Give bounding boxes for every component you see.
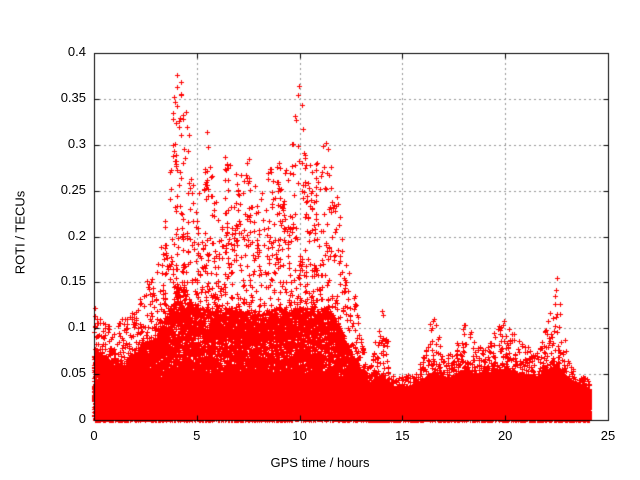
y-tick-label: 0.3	[26, 136, 86, 151]
y-tick-label: 0.25	[26, 182, 86, 197]
x-axis-label: GPS time / hours	[0, 455, 640, 470]
y-tick-label: 0.2	[26, 228, 86, 243]
y-tick-label: 0.1	[26, 319, 86, 334]
y-tick-label: 0.4	[26, 44, 86, 59]
x-tick-label: 15	[382, 428, 422, 443]
x-tick-label: 0	[74, 428, 114, 443]
scatter-plot-canvas	[0, 0, 640, 480]
x-tick-label: 20	[485, 428, 525, 443]
y-tick-label: 0.35	[26, 90, 86, 105]
plot-figure: Day 348 of 2023, Rate Of TEC Index for r…	[0, 0, 640, 480]
x-tick-label: 25	[588, 428, 628, 443]
y-tick-label: 0	[26, 411, 86, 426]
x-tick-label: 10	[280, 428, 320, 443]
y-tick-label: 0.05	[26, 365, 86, 380]
x-tick-label: 5	[177, 428, 217, 443]
y-tick-label: 0.15	[26, 273, 86, 288]
